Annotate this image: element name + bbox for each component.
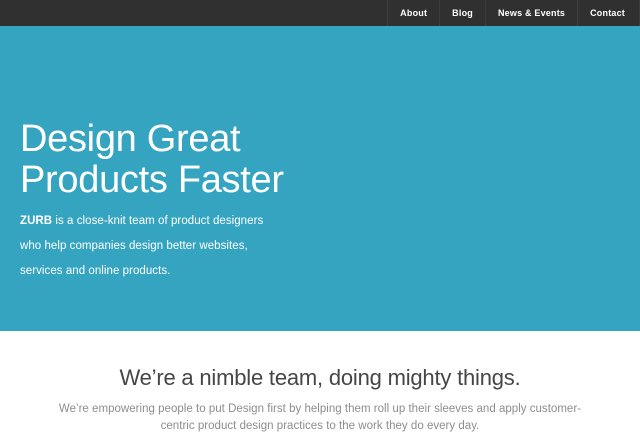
hero-title: Design Great Products Faster xyxy=(20,119,284,201)
page-root: About Blog News & Events Contact Design … xyxy=(0,0,640,440)
hero-description-line-1-rest: is a close-knit team of product designer… xyxy=(52,215,263,227)
nav-item-news-and-events[interactable]: News & Events xyxy=(485,0,577,26)
nav-item-contact[interactable]: Contact xyxy=(577,0,640,26)
hero-title-line-1: Design Great xyxy=(20,119,284,160)
intro-section: We’re a nimble team, doing mighty things… xyxy=(0,331,640,440)
intro-paragraph-line-1: We’re empowering people to put Design fi… xyxy=(0,401,640,418)
hero-description-line-1: ZURB is a close-knit team of product des… xyxy=(20,209,263,234)
intro-paragraph: We’re empowering people to put Design fi… xyxy=(0,391,640,435)
brand-name: ZURB xyxy=(20,215,52,227)
hero-description-line-3: services and online products. xyxy=(20,259,263,284)
intro-heading: We’re a nimble team, doing mighty things… xyxy=(0,331,640,391)
hero-section: Design Great Products Faster ZURB is a c… xyxy=(0,26,640,331)
nav-item-about[interactable]: About xyxy=(387,0,439,26)
top-navigation-bar: About Blog News & Events Contact xyxy=(0,0,640,26)
intro-paragraph-line-2: centric product design practices to the … xyxy=(0,418,640,435)
hero-title-line-2: Products Faster xyxy=(20,160,284,201)
main-nav: About Blog News & Events Contact xyxy=(387,0,640,26)
nav-item-blog[interactable]: Blog xyxy=(439,0,485,26)
hero-description-line-2: who help companies design better website… xyxy=(20,234,263,259)
hero-description: ZURB is a close-knit team of product des… xyxy=(20,209,263,284)
